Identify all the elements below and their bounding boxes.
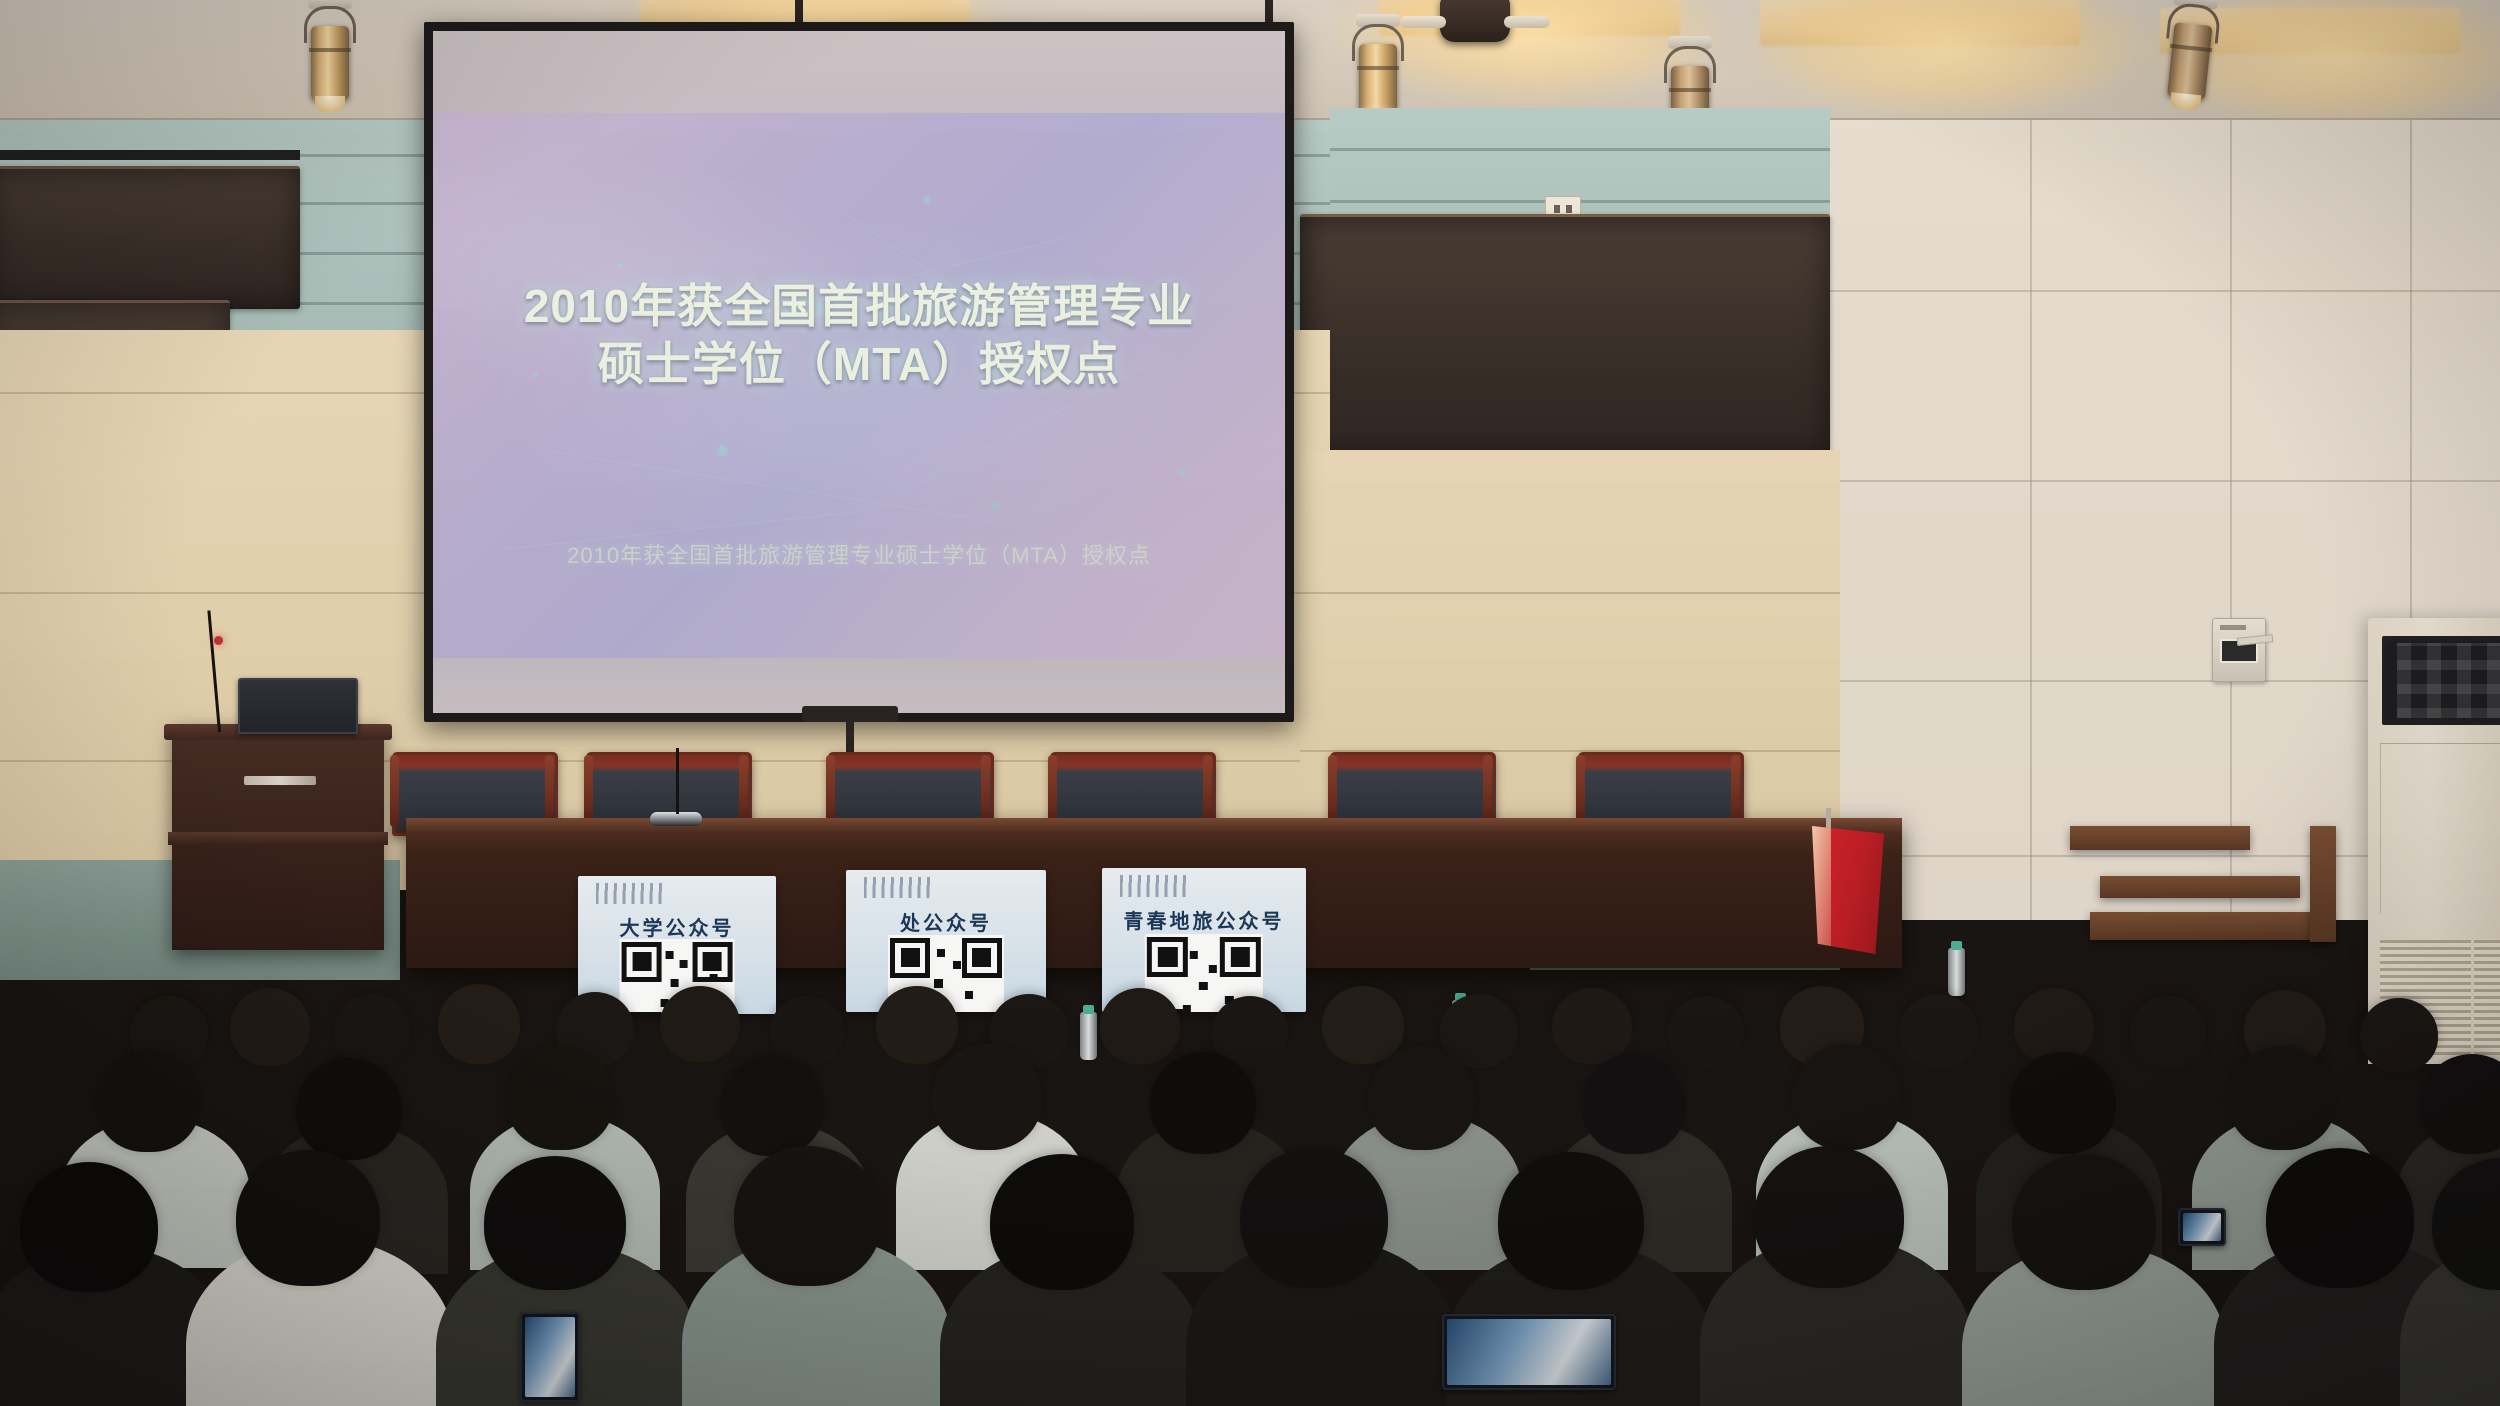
audience-body — [2396, 1122, 2500, 1272]
audience-head — [1322, 986, 1404, 1064]
audience-body — [940, 1244, 1202, 1406]
acoustic-board-left — [0, 166, 300, 309]
audience-body — [2214, 1238, 2484, 1406]
audience-head — [2130, 996, 2206, 1068]
audience-head — [296, 1058, 402, 1160]
qr-banner-label: 大学公众号 — [578, 912, 776, 941]
slide-title: 2010年获全国首批旅游管理专业 硕士学位（MTA）授权点 — [433, 277, 1285, 395]
qr-code[interactable] — [1145, 934, 1263, 1012]
audience-head — [96, 1052, 200, 1152]
audience-body — [896, 1112, 1088, 1270]
wooden-bench-top — [2070, 826, 2250, 850]
qr-code[interactable] — [620, 939, 735, 1014]
audience-head — [1552, 988, 1632, 1064]
audience-head — [230, 988, 310, 1066]
audience-body — [682, 1236, 952, 1406]
floor-standing-air-conditioner — [2368, 618, 2500, 1064]
wooden-bench-mid — [2100, 876, 2300, 898]
slide-title-line1: 2010年获全国首批旅游管理专业 — [433, 277, 1285, 336]
audience-head — [2266, 1148, 2414, 1288]
audience-head — [2014, 988, 2094, 1064]
audience-head — [2012, 1154, 2156, 1290]
audience-body — [1700, 1236, 1972, 1406]
qr-banner-label: 处公众号 — [846, 907, 1046, 936]
audience-head — [2420, 1054, 2500, 1154]
audience-head — [1240, 1148, 1388, 1288]
qr-banner-label: 青春地旅公众号 — [1102, 905, 1306, 934]
audience-head — [734, 1146, 882, 1286]
qr-code[interactable] — [888, 935, 1004, 1012]
audience-body — [1186, 1238, 1458, 1406]
audience-head — [1780, 986, 1864, 1066]
audience-body — [60, 1118, 250, 1268]
audience-head — [1754, 1146, 1904, 1288]
audience-head — [1498, 1152, 1644, 1290]
lectern-laptop[interactable] — [238, 678, 358, 734]
hanging-spotlight — [300, 0, 360, 126]
audience-body — [1548, 1122, 1732, 1272]
ceiling-projector-mount — [1440, 0, 1510, 42]
audience-body — [2400, 1246, 2500, 1406]
audience-head — [1368, 1046, 1476, 1150]
audience-head — [130, 996, 208, 1070]
audience-head — [2228, 1046, 2336, 1150]
wooden-bench-post — [2310, 826, 2336, 942]
audience-head — [1792, 1044, 1902, 1150]
audience-body — [1116, 1120, 1302, 1272]
presentation-slide: 2010年获全国首批旅游管理专业 硕士学位（MTA）授权点 2010年获全国首批… — [433, 113, 1285, 659]
qr-banner-office[interactable]: 处公众号 — [846, 870, 1046, 1012]
microphone-indicator-light — [214, 636, 223, 645]
audience-head — [20, 1162, 158, 1292]
wall-control-panel[interactable] — [2212, 618, 2266, 682]
audience-head — [2010, 1052, 2116, 1154]
wall-trim-strip — [0, 150, 300, 160]
smartphone-landscape[interactable] — [1442, 1314, 1616, 1390]
water-bottle — [1948, 948, 1965, 996]
audience-head — [932, 1044, 1042, 1150]
slide-title-line2: 硕士学位（MTA）授权点 — [433, 335, 1285, 394]
audience-head — [720, 1056, 824, 1156]
university-logo-icon — [864, 877, 932, 898]
audience-body — [1976, 1120, 2162, 1272]
qr-banner-university[interactable]: 大学公众号 — [578, 876, 776, 1014]
slide-subtitle: 2010年获全国首批旅游管理专业硕士学位（MTA）授权点 — [433, 538, 1285, 570]
audience-body — [186, 1238, 454, 1406]
audience-head — [1150, 1052, 1256, 1154]
audience-body — [686, 1122, 870, 1272]
audience-head — [438, 984, 520, 1064]
audience-body — [1332, 1114, 1522, 1270]
audience-body — [0, 1246, 230, 1406]
table-microphone[interactable] — [650, 812, 702, 826]
audience-head — [506, 1046, 614, 1150]
lectern[interactable] — [172, 724, 384, 950]
audience-head — [770, 996, 844, 1066]
audience-body — [2192, 1114, 2382, 1270]
water-bottle — [1080, 1012, 1097, 1060]
audience-head — [1668, 996, 1744, 1068]
qr-banner-youth-tourism[interactable]: 青春地旅公众号 — [1102, 868, 1306, 1012]
smartphone-small[interactable] — [2178, 1208, 2226, 1246]
university-logo-icon — [1120, 875, 1189, 897]
lecture-hall-photo: 2010年获全国首批旅游管理专业 硕士学位（MTA）授权点 2010年获全国首批… — [0, 0, 2500, 1406]
audience-head — [1582, 1054, 1686, 1154]
audience-head — [2244, 990, 2326, 1068]
projection-screen: 2010年获全国首批旅游管理专业 硕士学位（MTA）授权点 2010年获全国首批… — [424, 22, 1294, 722]
audience-body — [1756, 1112, 1948, 1270]
audience-head — [334, 994, 410, 1066]
smartphone-portrait[interactable] — [520, 1312, 580, 1402]
audience-head — [484, 1156, 626, 1290]
audience-body — [1962, 1244, 2226, 1406]
audience-head — [1900, 994, 1978, 1068]
audience-head — [236, 1150, 380, 1286]
audience-body — [470, 1114, 660, 1270]
water-bottle — [1452, 1000, 1469, 1048]
acoustic-board-right — [1300, 214, 1830, 457]
wooden-bench-low — [2090, 912, 2330, 940]
audience-head — [2432, 1158, 2500, 1290]
red-flag — [1812, 826, 1884, 954]
audience-head — [990, 1154, 1134, 1290]
university-logo-icon — [596, 883, 663, 904]
audience-body — [262, 1124, 448, 1274]
